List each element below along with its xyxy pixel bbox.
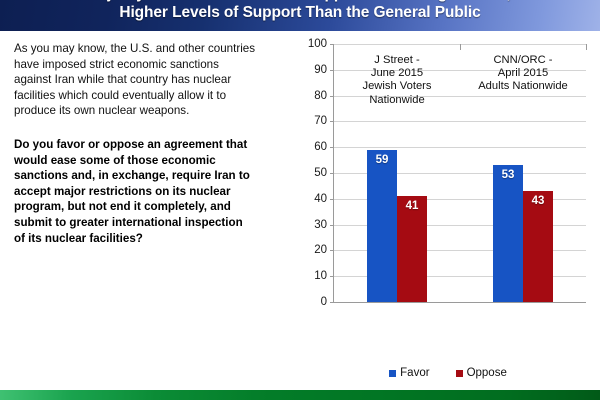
y-axis-tick (330, 199, 334, 200)
y-axis-tick-label: 50 (314, 167, 327, 179)
x-axis-category-label: J Street - June 2015 Jewish Voters Natio… (334, 54, 460, 107)
page-title: A Majority of Jewish Americans Support t… (0, 0, 600, 22)
y-axis-tick (330, 121, 334, 122)
legend-swatch-icon (389, 370, 396, 377)
chart-plot-area: 01020304050607080901005941J Street - Jun… (333, 44, 586, 303)
footer-accent-bar (0, 390, 600, 400)
y-axis-tick-label: 40 (314, 193, 327, 205)
legend-swatch-icon (456, 370, 463, 377)
y-axis-tick (330, 302, 334, 303)
bar-value-label: 53 (493, 169, 523, 181)
intro-paragraph: As you may know, the U.S. and other coun… (14, 41, 292, 119)
bar-value-label: 59 (367, 154, 397, 166)
y-axis-tick-label: 90 (314, 64, 327, 76)
y-axis-tick-label: 10 (314, 270, 327, 282)
legend-label: Oppose (467, 367, 507, 379)
bar-oppose[interactable]: 41 (397, 196, 427, 302)
legend-label: Favor (400, 367, 429, 379)
y-axis-tick (330, 173, 334, 174)
bar-favor[interactable]: 59 (367, 150, 397, 302)
x-axis-divider (586, 44, 587, 50)
question-panel: As you may know, the U.S. and other coun… (14, 41, 292, 246)
y-axis-tick-label: 70 (314, 115, 327, 127)
x-axis-category-label: CNN/ORC - April 2015 Adults Nationwide (460, 54, 586, 94)
y-axis-tick-label: 80 (314, 90, 327, 102)
bar-value-label: 41 (397, 200, 427, 212)
y-axis-tick-label: 20 (314, 244, 327, 256)
legend-item-favor[interactable]: Favor (389, 367, 429, 379)
y-axis-tick-label: 100 (308, 38, 327, 50)
bar-value-label: 43 (523, 195, 553, 207)
y-axis-tick (330, 225, 334, 226)
bar-chart: 01020304050607080901005941J Street - Jun… (300, 36, 596, 380)
slide-header: A Majority of Jewish Americans Support t… (0, 0, 600, 31)
x-axis-divider (460, 44, 461, 50)
legend-item-oppose[interactable]: Oppose (456, 367, 507, 379)
y-axis-tick-label: 0 (321, 296, 327, 308)
y-axis-tick (330, 250, 334, 251)
bar-oppose[interactable]: 43 (523, 191, 553, 302)
y-axis-tick (330, 147, 334, 148)
bar-favor[interactable]: 53 (493, 165, 523, 302)
y-axis-tick (330, 276, 334, 277)
chart-legend: FavorOppose (300, 367, 596, 379)
y-axis-tick-label: 30 (314, 219, 327, 231)
y-axis-tick-label: 60 (314, 141, 327, 153)
survey-question: Do you favor or oppose an agreement that… (14, 137, 292, 246)
y-axis-tick (330, 44, 334, 45)
